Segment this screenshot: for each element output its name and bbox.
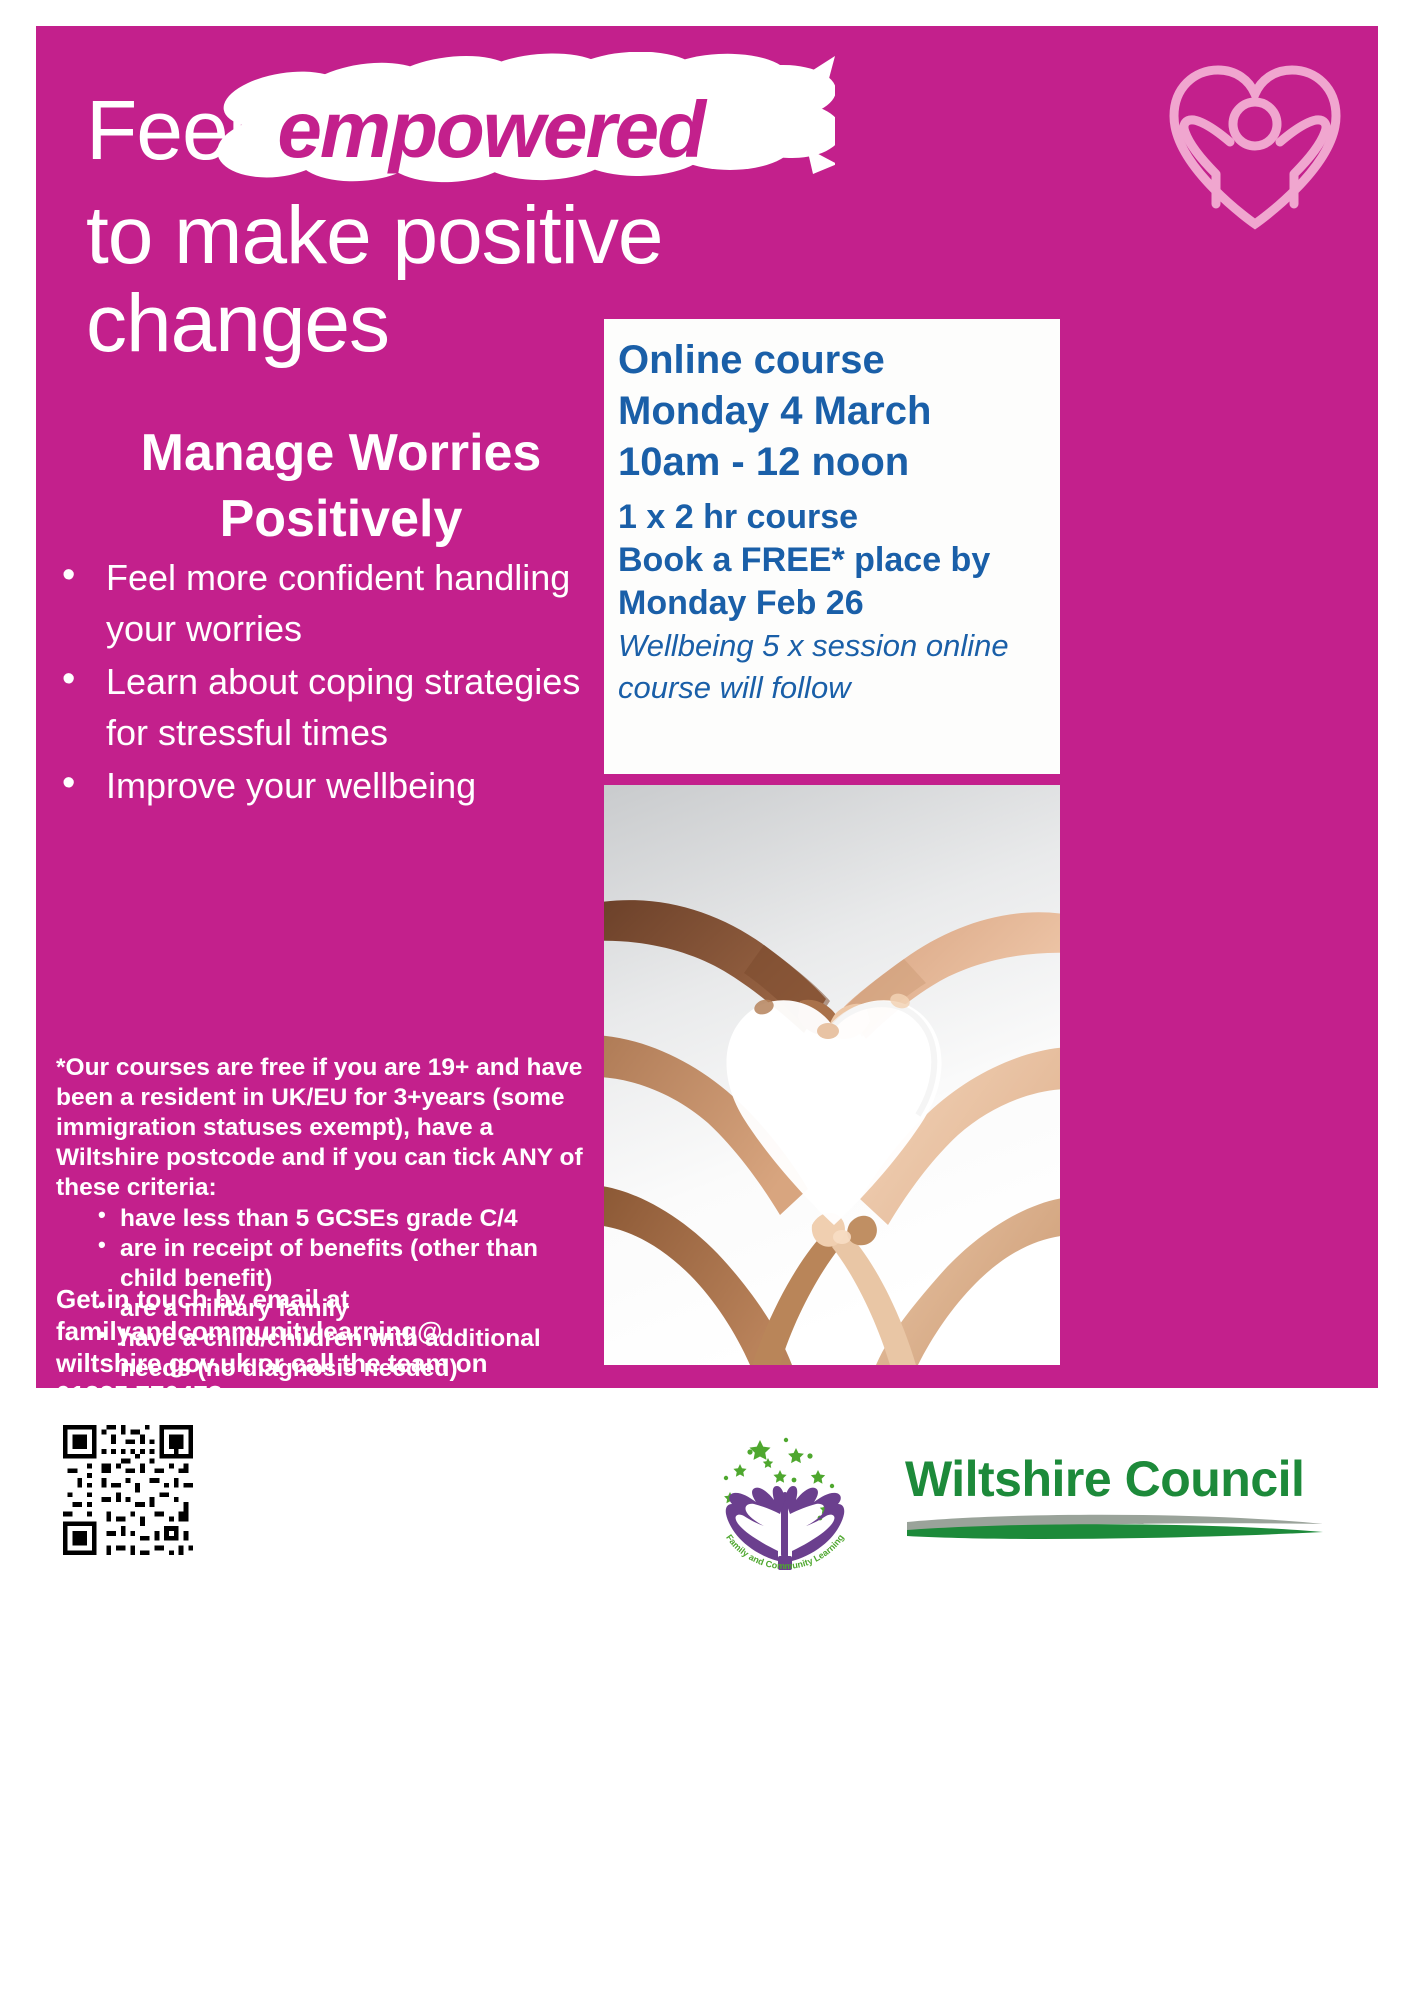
wiltshire-council-logo-text: Wiltshire Council: [905, 1450, 1325, 1508]
contact-line-1: Get in touch by email at: [56, 1283, 596, 1315]
wiltshire-swoosh-icon: [905, 1510, 1325, 1544]
info-time: 10am - 12 noon: [618, 437, 1048, 488]
wiltshire-council-logo: Wiltshire Council: [905, 1450, 1325, 1560]
info-date: Monday 4 March: [618, 386, 1048, 437]
contact-block: Get in touch by email at familyandcommun…: [56, 1283, 596, 1411]
hands-forming-heart-photo: [604, 785, 1060, 1365]
qr-code[interactable]: [58, 1420, 198, 1560]
course-details-box: Online course Monday 4 March 10am - 12 n…: [604, 319, 1060, 774]
heart-with-person-icon: [1160, 56, 1350, 231]
benefit-item: Feel more confident handling your worrie…: [56, 552, 608, 654]
criteria-item: have less than 5 GCSEs grade C/4: [98, 1204, 596, 1234]
benefit-item: Learn about coping strategies for stress…: [56, 656, 608, 758]
info-followup-line-1: Wellbeing 5 x session online: [618, 625, 1048, 667]
course-title: Manage Worries Positively: [86, 420, 596, 552]
contact-email-line-2[interactable]: wiltshire.gov.uk or call the team on: [56, 1347, 596, 1379]
headline-row-first: Feel: [86, 82, 846, 192]
poster-canvas: Feel: [0, 0, 1414, 2000]
headline-emphasis-wrap: empowered: [259, 74, 722, 186]
family-and-community-learning-logo: Family and Community Learning: [700, 1418, 870, 1588]
headline-line-2: to make positive: [86, 192, 846, 280]
benefit-list: Feel more confident handling your worrie…: [56, 552, 608, 813]
info-duration: 1 x 2 hr course: [618, 496, 1048, 539]
info-booking-line-1: Book a FREE* place by: [618, 539, 1048, 582]
info-online-course: Online course: [618, 335, 1048, 386]
info-followup-line-2: course will follow: [618, 667, 1048, 709]
headline-word-empowered: empowered: [259, 85, 722, 174]
benefit-item: Improve your wellbeing: [56, 760, 608, 811]
info-booking-line-2: Monday Feb 26: [618, 582, 1048, 625]
eligibility-intro: *Our courses are free if you are 19+ and…: [56, 1053, 596, 1203]
contact-email-line-1[interactable]: familyandcommunitylearning@: [56, 1315, 596, 1347]
info-spacer: [618, 488, 1048, 496]
hands-heart-illustration: [604, 785, 1060, 1365]
